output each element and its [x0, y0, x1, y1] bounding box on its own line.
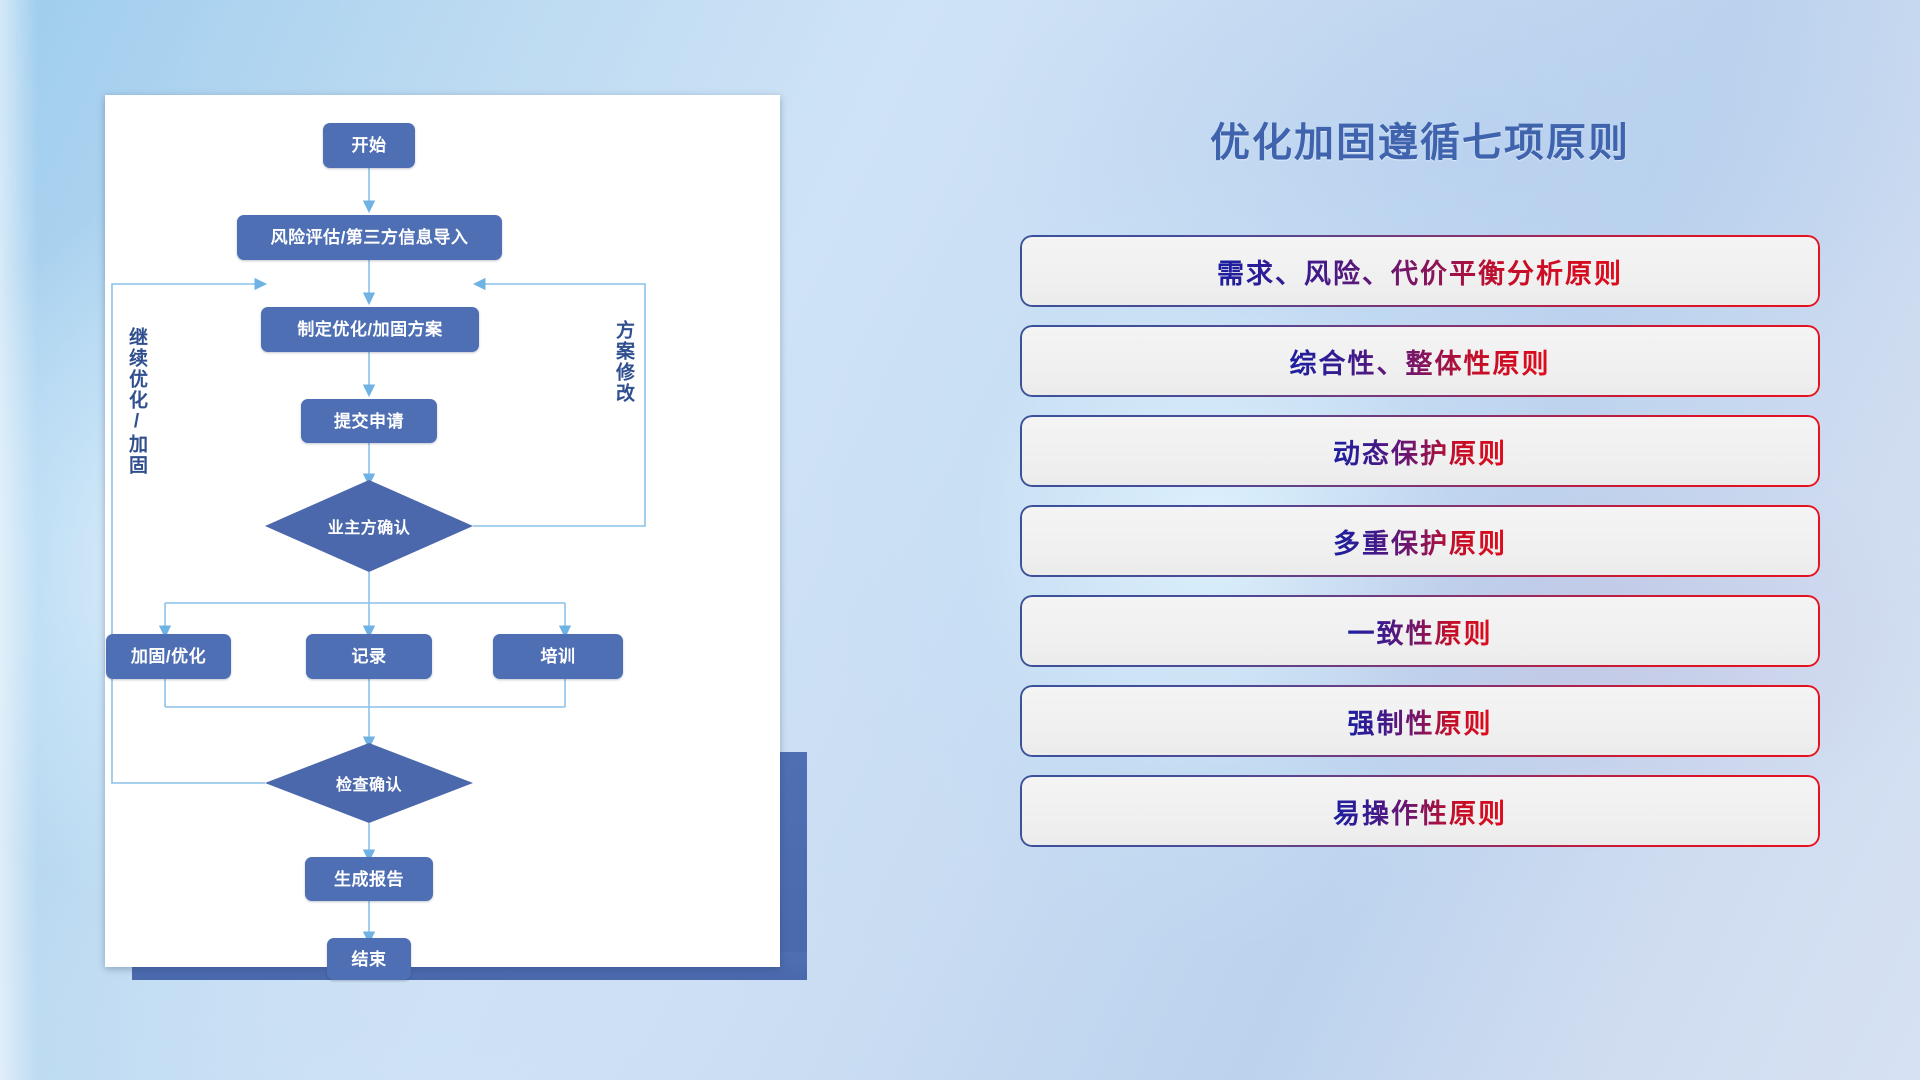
principle-label: 动态保护原则 — [1333, 432, 1507, 471]
principle-label: 易操作性原则 — [1333, 792, 1507, 831]
principle-item-3[interactable]: 动态保护原则 — [1020, 415, 1820, 487]
flow-decision-check-confirm-label: 检查确认 — [265, 743, 473, 823]
flow-node-submit-application[interactable]: 提交申请 — [301, 399, 437, 443]
principle-label: 需求、风险、代价平衡分析原则 — [1217, 252, 1623, 291]
flow-node-record[interactable]: 记录 — [306, 634, 432, 679]
flow-node-plan[interactable]: 制定优化/加固方案 — [261, 307, 479, 352]
principle-item-1[interactable]: 需求、风险、代价平衡分析原则 — [1020, 235, 1820, 307]
principle-label: 强制性原则 — [1348, 702, 1493, 741]
flow-node-generate-report[interactable]: 生成报告 — [305, 857, 433, 901]
principle-label: 一致性原则 — [1348, 612, 1493, 651]
principle-label: 多重保护原则 — [1333, 522, 1507, 561]
background-left-stripe — [0, 0, 38, 1080]
flow-decision-owner-confirm-label: 业主方确认 — [265, 480, 473, 572]
panel-title: 优化加固遵循七项原则 — [1020, 110, 1820, 168]
principle-item-4[interactable]: 多重保护原则 — [1020, 505, 1820, 577]
flow-decision-owner-confirm[interactable]: 业主方确认 — [265, 480, 473, 572]
edge-label-right-loop: 方案修改 — [610, 320, 637, 404]
slide-canvas: 开始 风险评估/第三方信息导入 制定优化/加固方案 提交申请 业主方确认 加固/… — [0, 0, 1920, 1080]
flow-node-risk-assessment[interactable]: 风险评估/第三方信息导入 — [237, 215, 502, 260]
principle-item-5[interactable]: 一致性原则 — [1020, 595, 1820, 667]
flowchart: 开始 风险评估/第三方信息导入 制定优化/加固方案 提交申请 业主方确认 加固/… — [105, 95, 780, 967]
edge-label-left-loop: 继续优化/加固 — [123, 327, 150, 476]
flow-node-start[interactable]: 开始 — [323, 123, 415, 168]
flow-node-training[interactable]: 培训 — [493, 634, 623, 679]
flowchart-card: 开始 风险评估/第三方信息导入 制定优化/加固方案 提交申请 业主方确认 加固/… — [105, 95, 780, 967]
principle-label: 综合性、整体性原则 — [1290, 342, 1551, 381]
principles-list: 需求、风险、代价平衡分析原则 综合性、整体性原则 动态保护原则 多重保护原则 一… — [1020, 235, 1820, 865]
principle-item-7[interactable]: 易操作性原则 — [1020, 775, 1820, 847]
principle-item-2[interactable]: 综合性、整体性原则 — [1020, 325, 1820, 397]
flow-node-end[interactable]: 结束 — [327, 938, 411, 980]
flow-node-reinforce[interactable]: 加固/优化 — [106, 634, 231, 679]
principles-panel: 优化加固遵循七项原则 需求、风险、代价平衡分析原则 综合性、整体性原则 动态保护… — [1020, 80, 1820, 1010]
flow-decision-check-confirm[interactable]: 检查确认 — [265, 743, 473, 823]
principle-item-6[interactable]: 强制性原则 — [1020, 685, 1820, 757]
